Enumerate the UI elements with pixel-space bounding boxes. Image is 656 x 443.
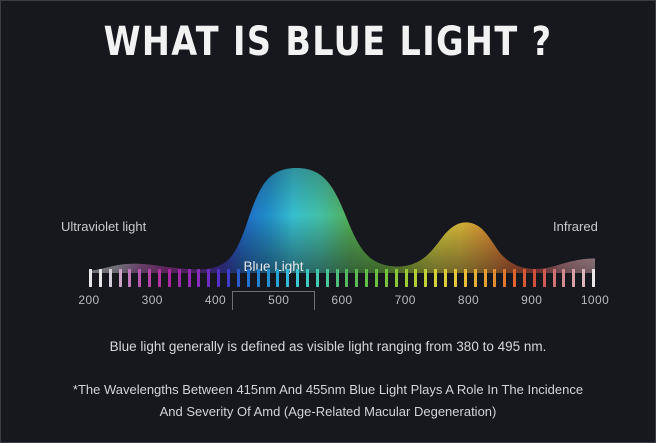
spectral-line <box>89 269 92 287</box>
spectral-line <box>582 269 585 287</box>
spectral-line <box>138 269 141 287</box>
caption-text: Blue light generally is defined as visib… <box>1 339 655 354</box>
axis-tick-600: 600 <box>331 293 352 307</box>
spectral-line <box>336 269 339 287</box>
spectral-line <box>188 269 191 287</box>
spectral-line <box>257 269 260 287</box>
spectral-line <box>99 269 102 287</box>
footnote-line-1: *The Wavelengths Between 415nm And 455nm… <box>1 379 655 401</box>
spectral-line <box>207 269 210 287</box>
spectral-line <box>385 269 388 287</box>
spectral-line <box>553 269 556 287</box>
spectral-line <box>395 269 398 287</box>
spectral-line <box>405 269 408 287</box>
spectral-line <box>533 269 536 287</box>
spectral-line <box>168 269 171 287</box>
axis-tick-300: 300 <box>142 293 163 307</box>
axis-tick-700: 700 <box>395 293 416 307</box>
spectral-line <box>562 269 565 287</box>
page-title: WHAT IS BLUE LIGHT ? <box>24 19 632 65</box>
spectral-line <box>316 269 319 287</box>
ultraviolet-label: Ultraviolet light <box>61 219 146 234</box>
spectral-line <box>464 269 467 287</box>
axis-tick-400: 400 <box>205 293 226 307</box>
spectral-line <box>276 269 279 287</box>
spectral-line <box>148 269 151 287</box>
spectral-line <box>523 269 526 287</box>
footnote-text: *The Wavelengths Between 415nm And 455nm… <box>1 379 655 423</box>
spectral-line <box>493 269 496 287</box>
spectral-line <box>355 269 358 287</box>
spectral-line <box>128 269 131 287</box>
spectral-line <box>217 269 220 287</box>
spectral-line <box>326 269 329 287</box>
spectral-line <box>296 269 299 287</box>
spectral-line <box>434 269 437 287</box>
spectrum-area-shading <box>89 168 595 273</box>
spectral-line <box>109 269 112 287</box>
axis-tick-800: 800 <box>458 293 479 307</box>
spectral-line <box>119 269 122 287</box>
spectral-line <box>247 269 250 287</box>
infrared-label: Infrared <box>553 219 598 234</box>
spectral-line <box>484 269 487 287</box>
spectral-line <box>178 269 181 287</box>
spectral-line <box>424 269 427 287</box>
spectral-line <box>513 269 516 287</box>
spectral-line <box>543 269 546 287</box>
spectral-line <box>158 269 161 287</box>
axis-tick-200: 200 <box>78 293 99 307</box>
spectral-line <box>503 269 506 287</box>
spectral-line <box>345 269 348 287</box>
spectral-line <box>454 269 457 287</box>
infographic-poster: WHAT IS BLUE LIGHT ? <box>0 0 656 443</box>
axis-tick-1000: 1000 <box>581 293 609 307</box>
footnote-line-2: And Severity Of Amd (Age-Related Macular… <box>1 401 655 423</box>
spectral-line <box>375 269 378 287</box>
spectral-line <box>267 269 270 287</box>
spectral-line-strip <box>89 269 595 287</box>
wavelength-axis: 2003004005006007008009001000 <box>1 293 656 309</box>
spectral-line <box>592 269 595 287</box>
spectral-line <box>365 269 368 287</box>
spectral-line <box>237 269 240 287</box>
axis-tick-500: 500 <box>268 293 289 307</box>
spectral-line <box>572 269 575 287</box>
axis-tick-900: 900 <box>521 293 542 307</box>
spectral-line <box>414 269 417 287</box>
spectral-line <box>306 269 309 287</box>
spectral-line <box>474 269 477 287</box>
spectral-line <box>227 269 230 287</box>
spectral-line <box>286 269 289 287</box>
spectral-line <box>197 269 200 287</box>
spectral-line <box>444 269 447 287</box>
